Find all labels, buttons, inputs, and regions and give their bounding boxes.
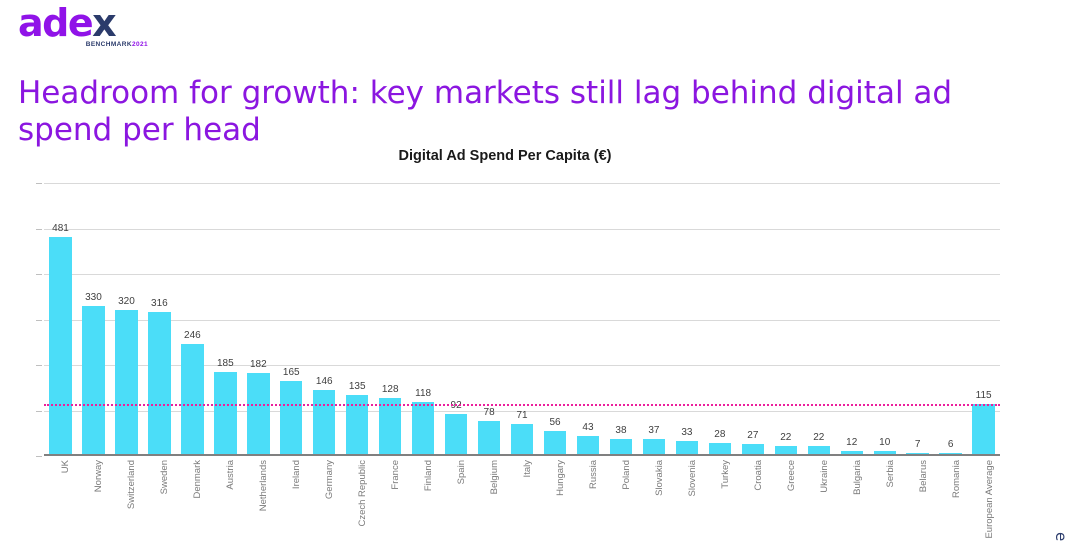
x-axis-category-label: Serbia	[885, 460, 896, 487]
bar[interactable]	[445, 414, 467, 456]
y-axis-tick	[36, 456, 42, 457]
bar-group[interactable]: 28Turkey	[703, 183, 736, 456]
bar[interactable]	[49, 237, 71, 456]
bar[interactable]	[379, 398, 401, 456]
x-axis-category-label: Finland	[423, 460, 434, 491]
bar-group[interactable]: 330Norway	[77, 183, 110, 456]
bar-group[interactable]: 7Belarus	[901, 183, 934, 456]
x-axis-category-label: Norway	[93, 460, 104, 492]
bar-group[interactable]: 37Slovakia	[637, 183, 670, 456]
x-axis-category-label: Croatia	[753, 460, 764, 491]
bar-group[interactable]: 246Denmark	[176, 183, 209, 456]
y-axis-tick	[36, 320, 42, 321]
bar-group[interactable]: 38Poland	[604, 183, 637, 456]
bar[interactable]	[412, 402, 434, 456]
bar-group[interactable]: 128France	[374, 183, 407, 456]
bar-group[interactable]: 43Russia	[572, 183, 605, 456]
bar[interactable]	[511, 424, 533, 456]
bar[interactable]	[280, 381, 302, 456]
bar[interactable]	[214, 372, 236, 456]
logo-wordmark-accent: x	[92, 1, 115, 45]
logo-wordmark-main: ade	[18, 1, 92, 45]
bar-group[interactable]: 316Sweden	[143, 183, 176, 456]
bar[interactable]	[544, 431, 566, 456]
bar-group[interactable]: 71Italy	[506, 183, 539, 456]
bar[interactable]	[115, 310, 137, 456]
chart-bars: 481UK330Norway320Switzerland316Sweden246…	[44, 183, 1000, 456]
x-axis-category-label: Turkey	[720, 460, 731, 489]
x-axis-category-label: Czech Republic	[357, 460, 368, 527]
x-axis-category-label: Hungary	[555, 460, 566, 496]
bar-value-label: 115	[960, 390, 1008, 401]
chart-x-axis-baseline	[44, 454, 1000, 456]
x-axis-category-label: Austria	[225, 460, 236, 490]
bar-group[interactable]: 56Hungary	[539, 183, 572, 456]
y-axis-tick	[36, 365, 42, 366]
bar-group[interactable]: 22Greece	[769, 183, 802, 456]
bar[interactable]	[247, 373, 269, 456]
x-axis-category-label: Ukraine	[819, 460, 830, 493]
chart-plot-area: 0100200300400500600 481UK330Norway320Swi…	[44, 183, 1000, 456]
x-axis-category-label: Spain	[456, 460, 467, 484]
bar-group[interactable]: 10Serbia	[868, 183, 901, 456]
adex-logo: adex BENCHMARK2021	[18, 6, 148, 52]
logo-wordmark: adex	[18, 6, 148, 40]
logo-subtitle-main: BENCHMARK	[86, 41, 132, 48]
x-axis-category-label: Romania	[951, 460, 962, 498]
page-headline: Headroom for growth: key markets still l…	[18, 75, 978, 149]
bar[interactable]	[478, 421, 500, 456]
x-axis-category-label: Greece	[786, 460, 797, 491]
bar-group[interactable]: 165Ireland	[275, 183, 308, 456]
x-axis-category-label: Sweden	[159, 460, 170, 494]
bar-group[interactable]: 320Switzerland	[110, 183, 143, 456]
chart-container: Digital Ad Spend Per Capita (€) 01002003…	[0, 140, 1072, 538]
bar-group[interactable]: 12Bulgaria	[835, 183, 868, 456]
bar[interactable]	[313, 390, 335, 456]
x-axis-category-label: Russia	[588, 460, 599, 489]
bar-group[interactable]: 135Czech Republic	[341, 183, 374, 456]
y-axis-tick	[36, 411, 42, 412]
bar-group[interactable]: 118Finland	[407, 183, 440, 456]
x-axis-category-label: Denmark	[192, 460, 203, 499]
bar[interactable]	[148, 312, 170, 456]
x-axis-category-label: UK	[60, 460, 71, 473]
x-axis-category-label: Switzerland	[126, 460, 137, 509]
bar-group[interactable]: 481UK	[44, 183, 77, 456]
x-axis-category-label: European Average	[984, 460, 995, 539]
x-axis-category-label: Netherlands	[258, 460, 269, 511]
bar-group[interactable]: 22Ukraine	[802, 183, 835, 456]
x-axis-category-label: Belgium	[489, 460, 500, 494]
bar[interactable]	[181, 344, 203, 456]
x-axis-category-label: Ireland	[291, 460, 302, 489]
y-axis-tick	[36, 274, 42, 275]
bar[interactable]	[82, 306, 104, 456]
bar-group[interactable]: 27Croatia	[736, 183, 769, 456]
x-axis-category-label: Germany	[324, 460, 335, 499]
european-average-reference-line	[44, 404, 1000, 406]
bar-group[interactable]: 33Slovenia	[670, 183, 703, 456]
corner-mark: e	[1052, 532, 1070, 542]
bar-group[interactable]: 146Germany	[308, 183, 341, 456]
chart-title: Digital Ad Spend Per Capita (€)	[0, 148, 1010, 164]
y-axis-tick	[36, 183, 42, 184]
bar-group[interactable]: 115European Average	[967, 183, 1000, 456]
x-axis-category-label: Slovenia	[687, 460, 698, 496]
x-axis-category-label: Poland	[621, 460, 632, 490]
x-axis-category-label: Italy	[522, 460, 533, 477]
bar-group[interactable]: 182Netherlands	[242, 183, 275, 456]
bar-group[interactable]: 6Romania	[934, 183, 967, 456]
bar[interactable]	[972, 404, 994, 456]
x-axis-category-label: Belarus	[918, 460, 929, 492]
x-axis-category-label: Bulgaria	[852, 460, 863, 495]
bar-group[interactable]: 185Austria	[209, 183, 242, 456]
x-axis-category-label: Slovakia	[654, 460, 665, 496]
x-axis-category-label: France	[390, 460, 401, 490]
logo-subtitle-year: 2021	[132, 41, 148, 48]
